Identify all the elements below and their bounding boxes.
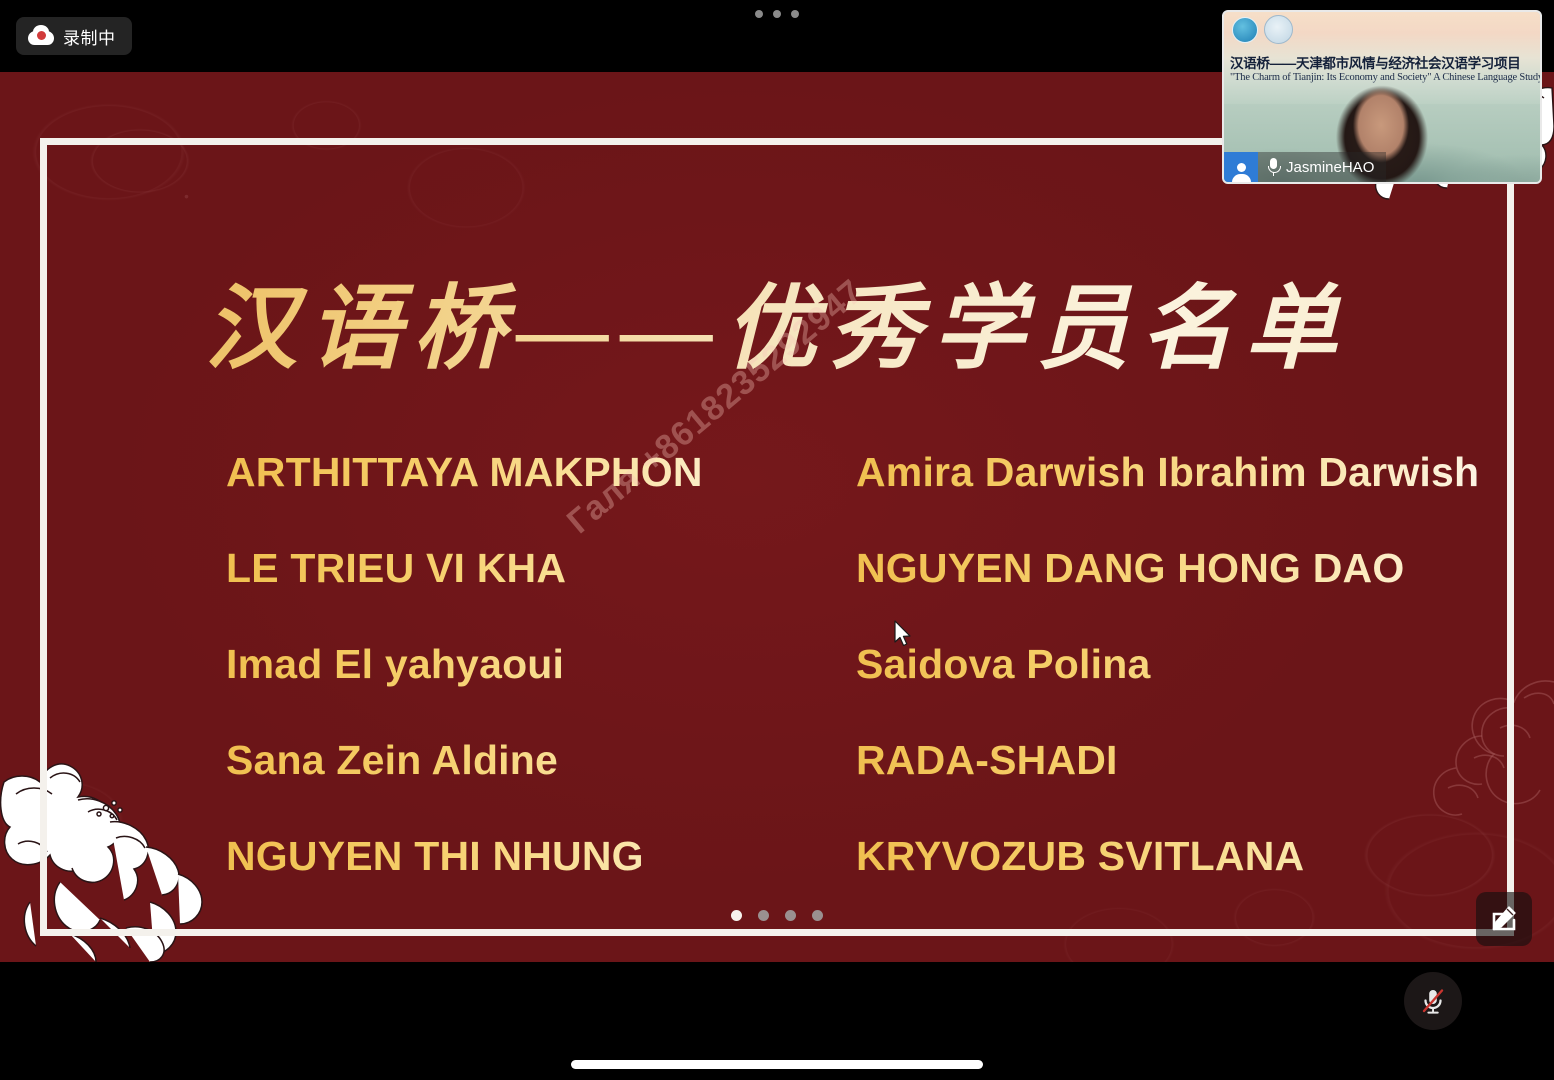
microphone-muted-icon — [1416, 984, 1450, 1018]
page-dot-3[interactable] — [785, 910, 796, 921]
shared-screen-slide[interactable]: 汉语桥——优秀学员名单 Галя +8618235292947 ARTHITTA… — [0, 72, 1554, 962]
recording-label: 录制中 — [63, 24, 116, 49]
list-item: ARTHITTAYA MAKPHON — [226, 424, 856, 520]
list-item: NGUYEN THI NHUNG — [226, 808, 856, 904]
student-name-list: ARTHITTAYA MAKPHON LE TRIEU VI KHA Imad … — [0, 424, 1554, 904]
person-icon — [1224, 152, 1258, 182]
page-dot-2[interactable] — [758, 910, 769, 921]
institution-seal-icon — [1264, 15, 1293, 44]
home-indicator-bar[interactable] — [571, 1060, 983, 1069]
slide-pagination-dots[interactable] — [731, 910, 823, 921]
list-item: KRYVOZUB SVITLANA — [856, 808, 1554, 904]
list-item: RADA-SHADI — [856, 712, 1554, 808]
annotate-button[interactable] — [1476, 892, 1532, 946]
list-item: Imad El yahyaoui — [226, 616, 856, 712]
page-dot-1[interactable] — [731, 910, 742, 921]
pen-annotate-icon — [1487, 902, 1521, 936]
self-view-video-tile[interactable]: 汉语桥——天津都市风情与经济社会汉语学习项目 "The Charm of Tia… — [1222, 10, 1542, 184]
list-item: Sana Zein Aldine — [226, 712, 856, 808]
participant-nameplate: JasmineHAO — [1224, 152, 1386, 182]
page-dot-4[interactable] — [812, 910, 823, 921]
hanyuqiao-logo-icon — [1232, 17, 1258, 43]
list-item: NGUYEN DANG HONG DAO — [856, 520, 1554, 616]
recording-indicator[interactable]: 录制中 — [16, 17, 132, 55]
slide-title: 汉语桥——优秀学员名单 — [0, 254, 1554, 387]
three-dots-icon[interactable] — [755, 10, 799, 18]
name-column-right: Amira Darwish Ibrahim Darwish NGUYEN DAN… — [856, 424, 1554, 904]
name-column-left: ARTHITTAYA MAKPHON LE TRIEU VI KHA Imad … — [226, 424, 856, 904]
microphone-icon — [1268, 158, 1279, 176]
participant-name-label: JasmineHAO — [1286, 159, 1374, 176]
cloud-record-icon — [28, 27, 54, 45]
list-item: Saidova Polina — [856, 616, 1554, 712]
mic-mute-toggle-button[interactable] — [1404, 972, 1462, 1030]
list-item: Amira Darwish Ibrahim Darwish — [856, 424, 1554, 520]
list-item: LE TRIEU VI KHA — [226, 520, 856, 616]
